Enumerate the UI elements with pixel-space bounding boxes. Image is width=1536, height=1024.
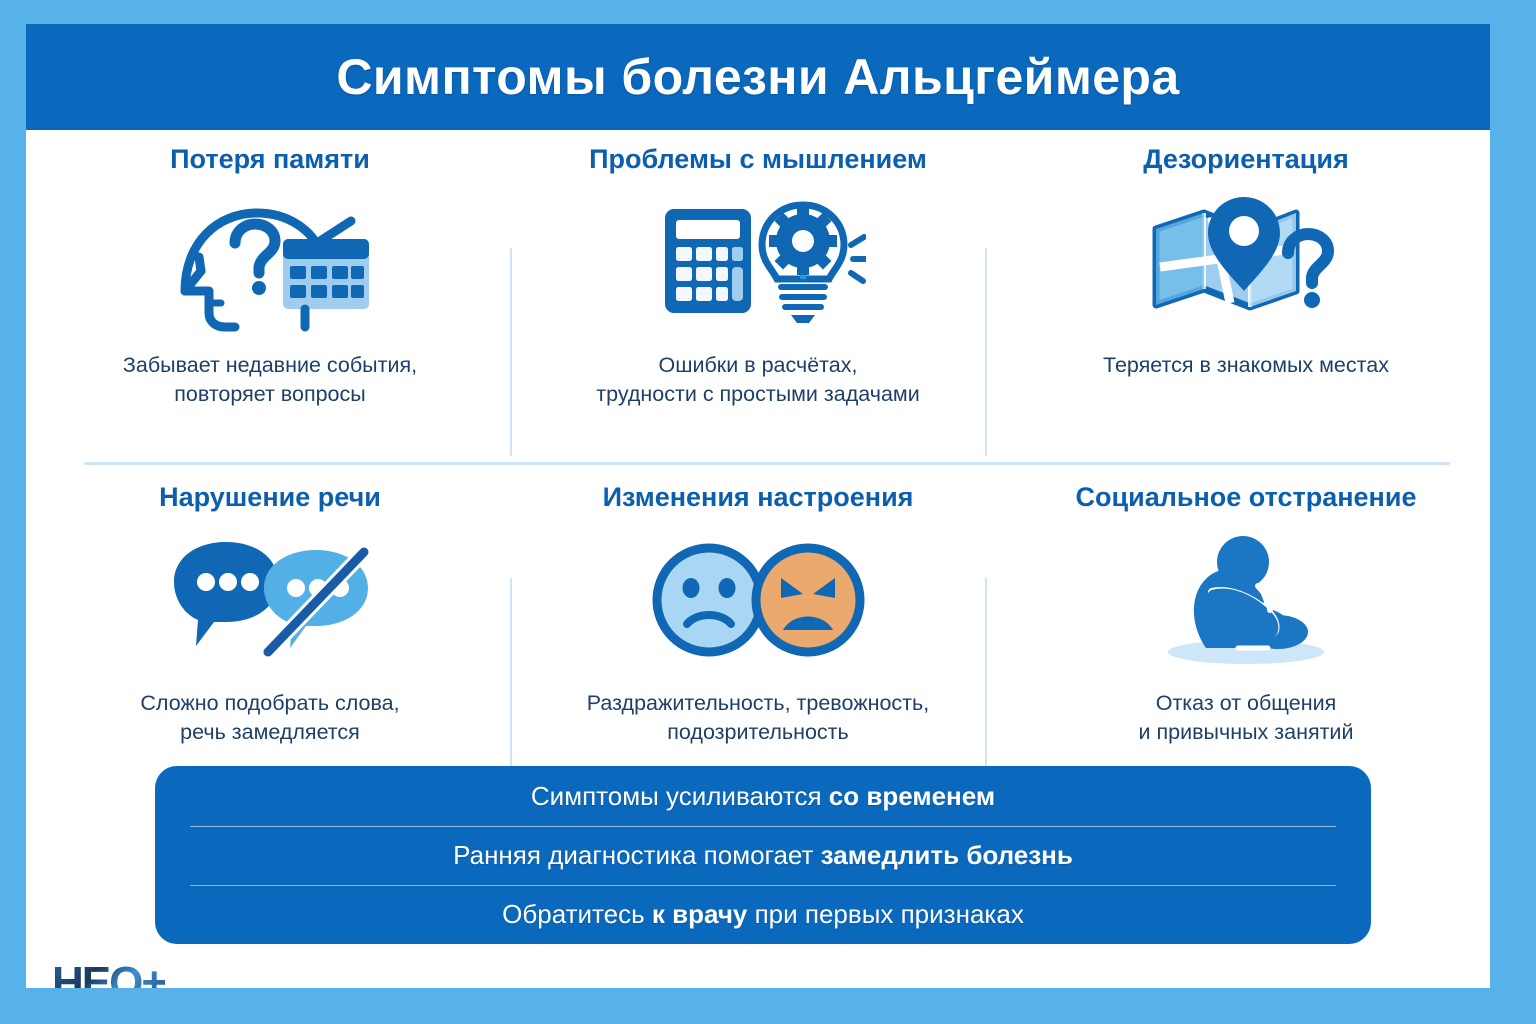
symptom-description: Забывает недавние события,повторяет вопр… [123,351,417,409]
symptom-description: Раздражительность, тревожность,подозрите… [587,689,929,747]
symptom-description: Отказ от общенияи привычных занятий [1139,689,1354,747]
sad-angry-faces-icon [651,525,866,675]
speech-bubbles-slash-icon [160,525,380,675]
key-message-row: Симптомы усиливаются со временем [155,767,1371,826]
symptom-card-disorientation: Дезориентация [1002,144,1490,460]
key-message-plain: Ранняя диагностика помогает [453,840,821,870]
key-message-row: Обратитесь к врачу при первых признаках [155,885,1371,944]
symptom-title: Социальное отстранение [1076,482,1417,513]
poster-root: Симптомы болезни Альцгеймера Потеря памя… [0,0,1536,1024]
key-message-text: Симптомы усиливаются со временем [531,781,995,812]
map-pin-question-icon [1146,187,1346,337]
head-question-calendar-icon [165,187,375,337]
key-message-plain-after: при первых признаках [747,899,1023,929]
key-message-text: Ранняя диагностика помогает замедлить бо… [453,840,1073,871]
symptom-title: Проблемы с мышлением [589,144,927,175]
key-message-text: Обратитесь к врачу при первых признаках [502,899,1024,930]
key-message-plain: Симптомы усиливаются [531,781,829,811]
symptom-title: Нарушение речи [159,482,381,513]
symptom-card-social-withdrawal: Социальное отстранение [1002,482,1490,782]
symptom-card-speech-impairment: Нарушение речи [26,482,514,782]
symptom-description: Сложно подобрать слова,речь замедляется [140,689,399,747]
logo-text: НЕО+ [52,958,165,988]
person-sitting-alone-icon [1146,525,1346,675]
symptoms-row-1: Потеря памяти [26,144,1490,460]
symptom-card-memory-loss: Потеря памяти [26,144,514,460]
key-message-bold: к врачу [652,899,747,929]
key-message-plain: Обратитесь [502,899,652,929]
poster-card: Симптомы болезни Альцгеймера Потеря памя… [26,24,1490,988]
symptom-card-mood-changes: Изменения настроения [514,482,1002,782]
symptom-card-thinking-problems: Проблемы с мышлением [514,144,1002,460]
symptoms-row-2: Нарушение речи [26,482,1490,782]
key-messages-panel: Симптомы усиливаются со временем Ранняя … [155,766,1371,944]
key-message-bold: замедлить болезнь [821,840,1073,870]
calculator-lightbulb-gear-icon [651,187,866,337]
key-message-row: Ранняя диагностика помогает замедлить бо… [155,826,1371,885]
row-divider [84,462,1450,465]
page-title: Симптомы болезни Альцгеймера [336,48,1179,106]
poster-header: Симптомы болезни Альцгеймера [26,24,1490,130]
symptom-description: Ошибки в расчётах,трудности с простыми з… [596,351,919,409]
symptom-title: Дезориентация [1143,144,1348,175]
key-message-bold: со временем [829,781,995,811]
symptom-title: Изменения настроения [603,482,914,513]
symptom-description: Теряется в знакомых местах [1103,351,1389,380]
symptoms-grid: Потеря памяти [26,130,1490,770]
brand-logo: НЕО+ [52,954,165,988]
symptom-title: Потеря памяти [170,144,370,175]
